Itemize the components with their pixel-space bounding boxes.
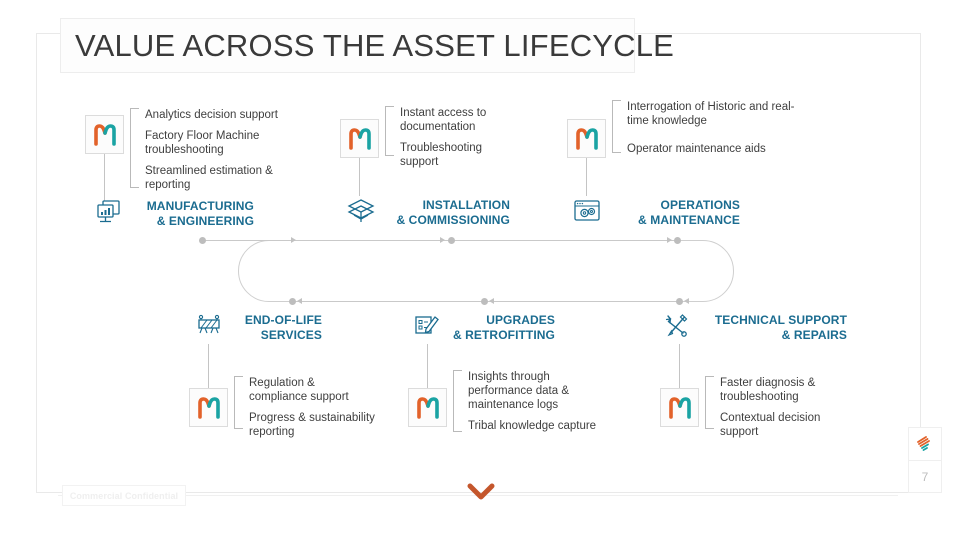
m-logo-icon xyxy=(668,397,692,419)
bracket-6 xyxy=(705,376,714,429)
stage-label-2: INSTALLATION & COMMISSIONING xyxy=(378,196,510,227)
loop-arrow-left xyxy=(684,298,689,304)
maira-logo-tile-6 xyxy=(660,388,699,427)
stage-label-6: TECHNICAL SUPPORT & REPAIRS xyxy=(695,311,847,342)
maira-logo-tile-2 xyxy=(340,119,379,158)
bullet-list-6: Faster diagnosis & troubleshooting Conte… xyxy=(720,376,850,439)
bullet-item: Instant access to documentation xyxy=(400,106,510,134)
m-logo-icon xyxy=(575,128,599,150)
m-logo-icon xyxy=(197,397,221,419)
m-logo-icon xyxy=(348,128,372,150)
bullet-item: Contextual decision support xyxy=(720,411,845,439)
bullet-item: Operator maintenance aids xyxy=(627,142,802,156)
bullet-list-5: Insights through performance data & main… xyxy=(468,370,633,433)
m-logo-icon xyxy=(416,397,440,419)
bullet-item: Progress & sustainability reporting xyxy=(249,411,394,439)
stage-heading-3[interactable]: OPERATIONS & MAINTENANCE xyxy=(571,196,740,227)
stage-label-4: END-OF-LIFE SERVICES xyxy=(227,311,322,342)
loop-node-dot xyxy=(674,237,681,244)
bullet-group-4: Regulation & compliance support Progress… xyxy=(234,376,394,439)
loop-arrow-left xyxy=(297,298,302,304)
open-box-icon xyxy=(344,196,374,226)
stage-heading-4[interactable]: END-OF-LIFE SERVICES xyxy=(193,311,322,342)
loop-arrow-left xyxy=(489,298,494,304)
bullet-list-1: Analytics decision support Factory Floor… xyxy=(145,108,320,192)
chevron-down-icon xyxy=(466,482,496,502)
bracket-5 xyxy=(453,370,462,432)
maira-logo-tile-5 xyxy=(408,388,447,427)
bullet-group-6: Faster diagnosis & troubleshooting Conte… xyxy=(705,376,850,439)
loop-node-dot xyxy=(481,298,488,305)
loop-bottom-segment-left xyxy=(292,301,482,302)
maira-logo-tile-3 xyxy=(567,119,606,158)
connector-line-5 xyxy=(427,344,428,388)
m-logo-icon xyxy=(93,124,117,146)
bracket-4 xyxy=(234,376,243,429)
stage-heading-6[interactable]: TECHNICAL SUPPORT & REPAIRS xyxy=(661,311,847,342)
loop-node-dot xyxy=(199,237,206,244)
stage-label-5: UPGRADES & RETROFITTING xyxy=(445,311,555,342)
bullet-list-4: Regulation & compliance support Progress… xyxy=(249,376,394,439)
connector-line-6 xyxy=(679,344,680,388)
bullet-item: Faster diagnosis & troubleshooting xyxy=(720,376,850,404)
bullet-item: Tribal knowledge capture xyxy=(468,419,633,433)
bullet-item: Insights through performance data & main… xyxy=(468,370,593,412)
connector-line-2 xyxy=(359,158,360,196)
maira-logo-tile-4 xyxy=(189,388,228,427)
loop-top-segment-left xyxy=(202,240,450,241)
bracket-3 xyxy=(612,100,621,153)
connector-line-3 xyxy=(586,158,587,196)
bullet-item: Troubleshooting support xyxy=(400,141,505,169)
window-gears-icon xyxy=(571,196,601,226)
stage-label-1: MANUFACTURING & ENGINEERING xyxy=(124,197,254,228)
clipboard-pencil-icon xyxy=(411,311,441,341)
page-title: VALUE ACROSS THE ASSET LIFECYCLE xyxy=(60,18,635,73)
loop-top-segment-right xyxy=(452,240,678,241)
monitor-chart-icon xyxy=(94,197,124,227)
bullet-item: Interrogation of Historic and real-time … xyxy=(627,100,799,128)
bracket-1 xyxy=(130,108,139,188)
bullet-group-2: Instant access to documentation Troubles… xyxy=(385,106,510,169)
page-number-text: 7 xyxy=(922,470,929,484)
bullet-item: Streamlined estimation & reporting xyxy=(145,164,295,192)
bullet-item: Analytics decision support xyxy=(145,108,320,122)
loop-node-dot xyxy=(676,298,683,305)
wrench-screwdriver-icon xyxy=(661,311,691,341)
connector-line-1 xyxy=(104,154,105,201)
loop-arrow-right xyxy=(440,237,445,243)
confidentiality-notice: Commercial Confidential xyxy=(62,485,186,506)
loop-arrow-right xyxy=(667,237,672,243)
bullet-list-3: Interrogation of Historic and real-time … xyxy=(627,100,802,156)
bullet-group-1: Analytics decision support Factory Floor… xyxy=(130,108,320,192)
bullet-list-2: Instant access to documentation Troubles… xyxy=(400,106,510,169)
brand-mark-icon xyxy=(915,434,935,454)
connector-line-4 xyxy=(208,344,209,388)
confidentiality-text: Commercial Confidential xyxy=(70,491,178,501)
loop-node-dot xyxy=(289,298,296,305)
maira-logo-tile-1 xyxy=(85,115,124,154)
brand-logo xyxy=(908,427,942,461)
barricade-icon xyxy=(193,311,223,341)
loop-node-dot xyxy=(448,237,455,244)
page-number: 7 xyxy=(908,461,942,493)
bullet-group-5: Insights through performance data & main… xyxy=(453,370,633,433)
loop-track xyxy=(238,240,734,302)
stage-heading-2[interactable]: INSTALLATION & COMMISSIONING xyxy=(344,196,510,227)
loop-bottom-segment-right xyxy=(484,301,680,302)
next-slide-chevron[interactable] xyxy=(466,482,496,507)
slide-canvas: VALUE ACROSS THE ASSET LIFECYCLE Analyti… xyxy=(0,0,960,540)
stage-heading-5[interactable]: UPGRADES & RETROFITTING xyxy=(411,311,555,342)
bracket-2 xyxy=(385,106,394,156)
stage-heading-1[interactable]: MANUFACTURING & ENGINEERING xyxy=(94,197,254,228)
stage-label-3: OPERATIONS & MAINTENANCE xyxy=(605,196,740,227)
bullet-item: Regulation & compliance support xyxy=(249,376,374,404)
bullet-group-3: Interrogation of Historic and real-time … xyxy=(612,100,802,156)
loop-arrow-right xyxy=(291,237,296,243)
page-title-text: VALUE ACROSS THE ASSET LIFECYCLE xyxy=(75,28,674,64)
bullet-item: Factory Floor Machine troubleshooting xyxy=(145,129,285,157)
